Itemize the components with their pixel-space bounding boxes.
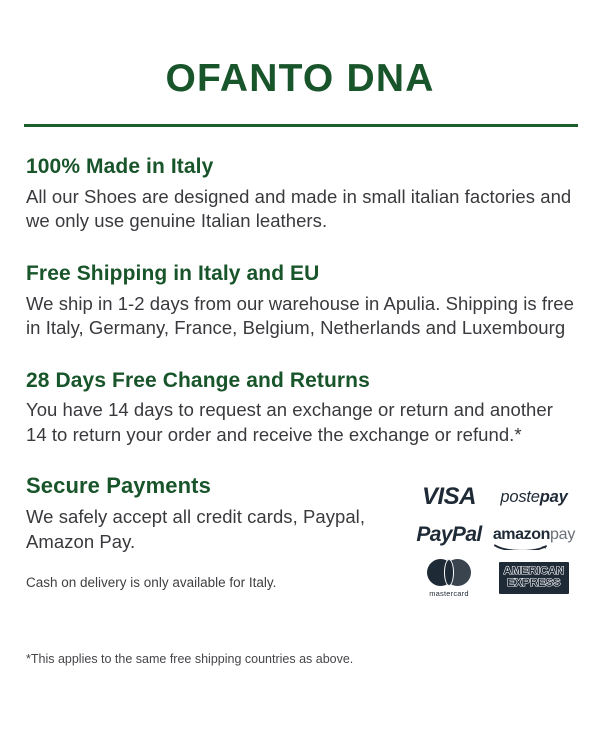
ofanto-dna-page: OFANTO DNA 100% Made in Italy All our Sh… xyxy=(0,0,600,750)
amazon-smile-arrow-icon xyxy=(494,541,550,550)
section-returns: 28 Days Free Change and Returns You have… xyxy=(26,368,574,447)
mastercard-wordmark: mastercard xyxy=(429,589,469,598)
section-free-shipping: Free Shipping in Italy and EU We ship in… xyxy=(26,261,574,340)
postepay-label-part2: pay xyxy=(540,488,568,506)
footnote: *This applies to the same free shipping … xyxy=(26,651,574,667)
payment-logo-row-2: PayPal amazonpay xyxy=(411,515,581,555)
content-container: 100% Made in Italy All our Shoes are des… xyxy=(26,154,574,595)
mastercard-overlap-lens xyxy=(444,559,454,586)
section-heading: 100% Made in Italy xyxy=(26,154,574,180)
amazon-pay-wordmark: amazonpay xyxy=(493,527,575,543)
mastercard-logo: mastercard xyxy=(411,559,487,598)
payment-logo-row-3: mastercard AMERICAN EXPRESS xyxy=(411,555,581,601)
postepay-wordmark: postepay xyxy=(500,488,567,507)
section-heading: Free Shipping in Italy and EU xyxy=(26,261,574,287)
section-heading: Secure Payments xyxy=(26,473,406,500)
section-body: You have 14 days to request an exchange … xyxy=(26,398,574,447)
postepay-logo: postepay xyxy=(487,488,581,507)
visa-wordmark: VISA xyxy=(422,483,476,511)
mastercard-mark: mastercard xyxy=(427,559,471,598)
postepay-label-part1: poste xyxy=(500,488,539,506)
section-body: All our Shoes are designed and made in s… xyxy=(26,185,574,234)
amazon-pay-logo: amazonpay xyxy=(487,527,581,543)
paypal-logo: PayPal xyxy=(411,523,487,547)
page-title: OFANTO DNA xyxy=(0,58,600,101)
american-express-logo: AMERICAN EXPRESS xyxy=(487,562,581,594)
section-body: We ship in 1-2 days from our warehouse i… xyxy=(26,292,574,341)
amex-label-line1: AMERICAN xyxy=(504,566,565,577)
title-divider xyxy=(24,124,578,127)
section-heading: 28 Days Free Change and Returns xyxy=(26,368,574,394)
amex-label-line2: EXPRESS xyxy=(507,578,560,589)
payments-text-block: Secure Payments We safely accept all cre… xyxy=(26,473,406,591)
cash-on-delivery-note: Cash on delivery is only available for I… xyxy=(26,574,406,592)
amex-badge: AMERICAN EXPRESS xyxy=(499,562,570,594)
payment-logos: VISA postepay PayPal amazonpay xyxy=(411,479,581,601)
section-made-in-italy: 100% Made in Italy All our Shoes are des… xyxy=(26,154,574,233)
visa-logo: VISA xyxy=(411,483,487,511)
paypal-wordmark: PayPal xyxy=(416,523,481,547)
payment-logo-row-1: VISA postepay xyxy=(411,479,581,515)
section-secure-payments: Secure Payments We safely accept all cre… xyxy=(26,473,574,591)
section-body: We safely accept all credit cards, Paypa… xyxy=(26,505,406,554)
mastercard-circles-icon xyxy=(427,559,471,586)
amazon-pay-label: pay xyxy=(550,526,575,543)
